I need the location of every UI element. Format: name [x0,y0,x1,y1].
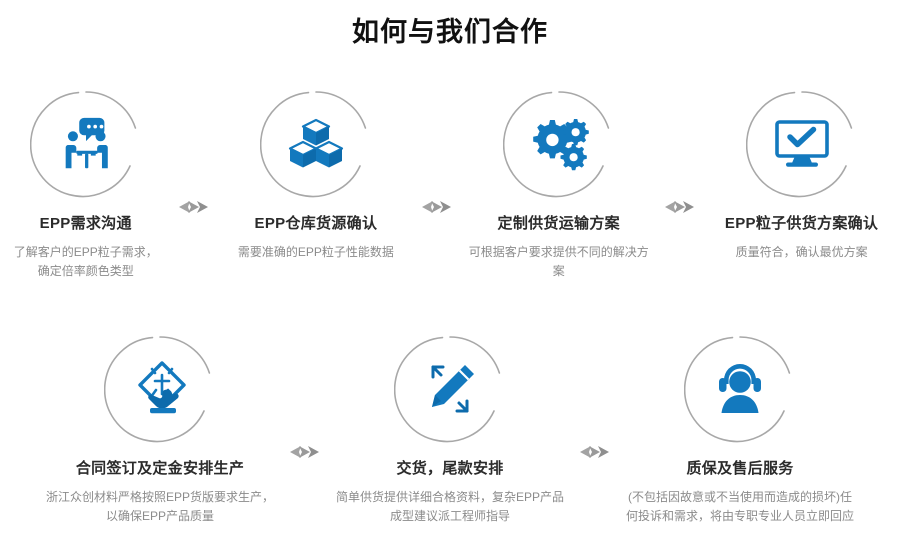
gears-settings-icon [529,114,589,174]
step-icon-ring-6 [394,333,506,445]
step-title: 合同签订及定金安排生产 [76,459,244,479]
process-step-5[interactable]: 合同签订及定金安排生产 浙江众创材料严格按照EPP货版要求生产，以确保EPP产品… [38,333,282,526]
step-icon-ring-4 [746,88,858,200]
step-icon-ring-7 [684,333,796,445]
step-description: 可根据客户要求提供不同的解决方案 [460,243,657,281]
process-step-7[interactable]: 质保及售后服务 (不包括因故意或不当使用而造成的损坏)任何投诉和需求，将由专职专… [618,333,862,526]
step-title: EPP粒子供货方案确认 [725,214,878,234]
page-title: 如何与我们合作 [0,14,900,50]
step-arrow-separator [282,333,328,461]
headset-support-icon [710,359,770,419]
infographic-page: 如何与我们合作 [0,0,900,538]
process-row-two: 合同签订及定金安排生产 浙江众创材料严格按照EPP货版要求生产，以确保EPP产品… [0,333,900,526]
process-row-one: EPP需求沟通 了解客户的EPP粒子需求，确定倍率颜色类型 [0,88,900,281]
boxes-inventory-icon [286,114,346,174]
step-description: 浙江众创材料严格按照EPP货版要求生产，以确保EPP产品质量 [38,488,282,526]
step-description: 了解客户的EPP粒子需求，确定倍率颜色类型 [0,243,171,281]
step-title: EPP需求沟通 [40,214,132,234]
step-title: 定制供货运输方案 [498,214,620,234]
step-arrow-separator [657,88,703,216]
process-step-6[interactable]: 交货，尾款安排 简单供货提供详细合格资料，复杂EPP产品成型建议派工程师指导 [328,333,572,526]
meeting-discussion-icon [56,114,116,174]
step-arrow-separator [414,88,460,216]
process-step-3[interactable]: 定制供货运输方案 可根据客户要求提供不同的解决方案 [460,88,657,281]
step-icon-ring-2 [260,88,372,200]
step-icon-ring-1 [30,88,142,200]
step-arrow-separator [171,88,217,216]
pencil-design-icon [420,359,480,419]
step-description: 简单供货提供详细合格资料，复杂EPP产品成型建议派工程师指导 [328,488,572,526]
monitor-check-icon [772,114,832,174]
step-icon-ring-5 [104,333,216,445]
process-step-1[interactable]: EPP需求沟通 了解客户的EPP粒子需求，确定倍率颜色类型 [0,88,171,281]
step-arrow-separator [572,333,618,461]
step-title: 质保及售后服务 [686,459,793,479]
step-description: 质量符合，确认最优方案 [728,243,876,262]
step-title: EPP仓库货源确认 [255,214,378,234]
contract-signing-hand-icon [130,359,190,419]
step-title: 交货，尾款安排 [396,459,503,479]
process-step-4[interactable]: EPP粒子供货方案确认 质量符合，确认最优方案 [703,88,900,262]
step-icon-ring-3 [503,88,615,200]
step-description: 需要准确的EPP粒子性能数据 [230,243,402,262]
step-description: (不包括因故意或不当使用而造成的损坏)任何投诉和需求，将由专职专业人员立即回应 [618,488,862,526]
process-step-2[interactable]: EPP仓库货源确认 需要准确的EPP粒子性能数据 [217,88,414,262]
